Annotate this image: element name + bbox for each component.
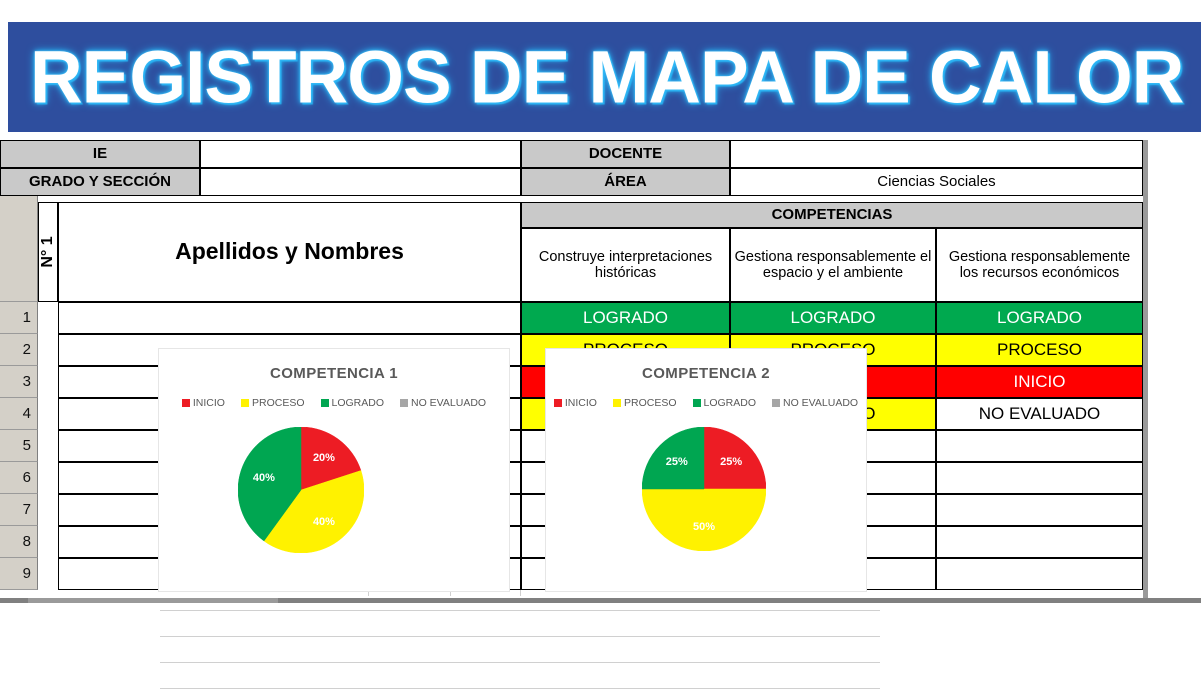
grid-line xyxy=(160,662,880,663)
value-area[interactable]: Ciencias Sociales xyxy=(730,168,1143,196)
pie-svg xyxy=(238,427,364,553)
legend-swatch-icon xyxy=(772,399,780,407)
column-number-header: N° 1 xyxy=(38,202,58,302)
pie-label-logrado: 25% xyxy=(666,456,688,468)
legend-label: NO EVALUADO xyxy=(783,397,858,409)
legend-swatch-icon xyxy=(241,399,249,407)
title-banner: REGISTROS DE MAPA DE CALOR xyxy=(8,22,1201,132)
legend-item-logrado: LOGRADO xyxy=(693,397,757,409)
value-grado-seccion[interactable] xyxy=(200,168,521,196)
cell-c1-row-1[interactable]: LOGRADO xyxy=(521,302,730,334)
header-apellidos-nombres: Apellidos y Nombres xyxy=(58,202,521,302)
legend-label: INICIO xyxy=(565,397,597,409)
row-header-3[interactable]: 3 xyxy=(0,366,38,398)
legend-swatch-icon xyxy=(693,399,701,407)
cell-c3-row-1[interactable]: LOGRADO xyxy=(936,302,1143,334)
pie-label-proceso: 40% xyxy=(313,516,335,528)
cell-c3-row-9[interactable] xyxy=(936,558,1143,590)
cell-c3-row-4[interactable]: NO EVALUADO xyxy=(936,398,1143,430)
legend-item-logrado: LOGRADO xyxy=(321,397,385,409)
pie-slice-proceso xyxy=(642,489,766,551)
row-header-1[interactable]: 1 xyxy=(0,302,38,334)
header-competencia-3: Gestiona responsablemente los recursos e… xyxy=(936,228,1143,302)
legend-swatch-icon xyxy=(400,399,408,407)
column-number-label: N° 1 xyxy=(39,236,57,267)
grid-line xyxy=(160,636,880,637)
row-header-5[interactable]: 5 xyxy=(0,430,38,462)
label-grado-seccion: GRADO Y SECCIÓN xyxy=(0,168,200,196)
horizontal-scrollbar-thumb[interactable] xyxy=(28,598,278,603)
label-docente: DOCENTE xyxy=(521,140,730,168)
chart-1-title: COMPETENCIA 1 xyxy=(159,365,509,382)
header-competencia-1: Construye interpretaciones históricas xyxy=(521,228,730,302)
grid-line xyxy=(160,610,880,611)
legend-label: INICIO xyxy=(193,397,225,409)
cell-c3-row-2[interactable]: PROCESO xyxy=(936,334,1143,366)
legend-item-proceso: PROCESO xyxy=(241,397,305,409)
cell-nombre-row-1[interactable] xyxy=(58,302,521,334)
value-docente[interactable] xyxy=(730,140,1143,168)
legend-item-proceso: PROCESO xyxy=(613,397,677,409)
pie-label-logrado: 40% xyxy=(253,472,275,484)
cell-c3-row-5[interactable] xyxy=(936,430,1143,462)
legend-label: LOGRADO xyxy=(332,397,385,409)
chart-competencia-2[interactable]: COMPETENCIA 2 INICIOPROCESOLOGRADONO EVA… xyxy=(545,348,867,592)
cell-c3-row-8[interactable] xyxy=(936,526,1143,558)
pie-label-proceso: 50% xyxy=(693,521,715,533)
row-header-2[interactable]: 2 xyxy=(0,334,38,366)
legend-label: PROCESO xyxy=(624,397,677,409)
cell-c3-row-7[interactable] xyxy=(936,494,1143,526)
row-header-4[interactable]: 4 xyxy=(0,398,38,430)
sheet-right-edge xyxy=(1143,140,1148,602)
row-header-9[interactable]: 9 xyxy=(0,558,38,590)
legend-swatch-icon xyxy=(554,399,562,407)
legend-swatch-icon xyxy=(321,399,329,407)
legend-swatch-icon xyxy=(182,399,190,407)
legend-swatch-icon xyxy=(613,399,621,407)
header-competencias: COMPETENCIAS xyxy=(521,202,1143,228)
legend-item-no-evaluado: NO EVALUADO xyxy=(400,397,486,409)
pie-label-inicio: 20% xyxy=(313,452,335,464)
chart-2-title: COMPETENCIA 2 xyxy=(546,365,866,382)
cell-c3-row-6[interactable] xyxy=(936,462,1143,494)
legend-item-inicio: INICIO xyxy=(182,397,225,409)
chart-1-legend: INICIOPROCESOLOGRADONO EVALUADO xyxy=(159,397,509,409)
row-header-7[interactable]: 7 xyxy=(0,494,38,526)
chart-2-legend: INICIOPROCESOLOGRADONO EVALUADO xyxy=(546,397,866,409)
pie-label-inicio: 25% xyxy=(720,456,742,468)
page-title: REGISTROS DE MAPA DE CALOR xyxy=(30,35,1183,120)
legend-item-inicio: INICIO xyxy=(554,397,597,409)
spreadsheet: 123456789 IE GRADO Y SECCIÓN DOCENTE ÁRE… xyxy=(0,140,1201,602)
label-ie: IE xyxy=(0,140,200,168)
cell-c3-row-3[interactable]: INICIO xyxy=(936,366,1143,398)
value-ie[interactable] xyxy=(200,140,521,168)
legend-label: NO EVALUADO xyxy=(411,397,486,409)
row-header-8[interactable]: 8 xyxy=(0,526,38,558)
header-competencia-2: Gestiona responsablemente el espacio y e… xyxy=(730,228,936,302)
label-area: ÁREA xyxy=(521,168,730,196)
row-header-6[interactable]: 6 xyxy=(0,462,38,494)
legend-label: PROCESO xyxy=(252,397,305,409)
chart-1-pie: 20%40%40% xyxy=(238,427,364,553)
legend-label: LOGRADO xyxy=(704,397,757,409)
chart-2-pie: 25%50%25% xyxy=(642,427,766,551)
cell-c2-row-1[interactable]: LOGRADO xyxy=(730,302,936,334)
chart-competencia-1[interactable]: COMPETENCIA 1 INICIOPROCESOLOGRADONO EVA… xyxy=(158,348,510,592)
legend-item-no-evaluado: NO EVALUADO xyxy=(772,397,858,409)
